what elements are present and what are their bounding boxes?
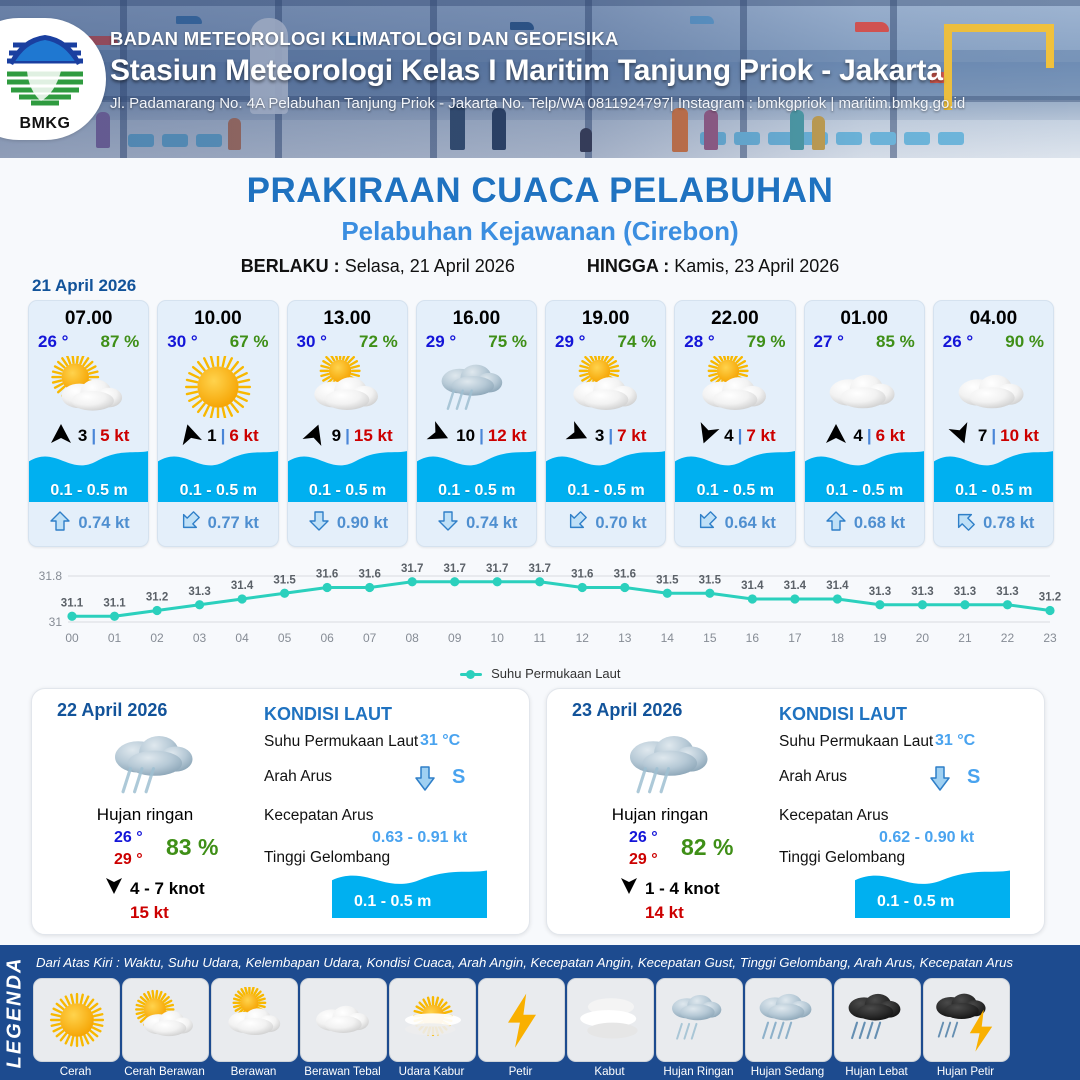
panel-wind-range: 1 - 4 knot: [645, 879, 720, 899]
panel-sea-title: KONDISI LAUT: [779, 704, 907, 725]
bmkg-logo: BMKG: [0, 18, 106, 140]
card-wind-direction: 7: [978, 426, 987, 446]
legend-item-icon: [745, 978, 832, 1062]
svg-text:31.6: 31.6: [571, 569, 593, 581]
card-wind-direction: 4: [724, 426, 733, 446]
panel-current-dir-value: S: [967, 766, 980, 789]
legend-item: Cerah Berawan: [122, 978, 207, 1078]
svg-text:31.5: 31.5: [699, 574, 722, 586]
card-weather-icon: [546, 354, 665, 420]
svg-text:31.4: 31.4: [784, 580, 807, 592]
card-wave-height: 0.1 - 0.5 m: [805, 482, 925, 500]
svg-text:31.7: 31.7: [444, 563, 466, 575]
card-current-row: 0.74 kt: [29, 511, 149, 536]
card-wind-speed: 12 kt: [488, 426, 527, 446]
panel-temp-max: 29 °: [114, 851, 143, 869]
legend-item-label: Cerah Berawan: [122, 1065, 207, 1078]
panel-current-speed-value: 0.62 - 0.90 kt: [879, 829, 974, 847]
svg-text:31.3: 31.3: [996, 586, 1018, 598]
svg-text:31.6: 31.6: [358, 569, 380, 581]
legend-item-label: Hujan Sedang: [745, 1065, 830, 1078]
card-wind-direction: 3: [595, 426, 604, 446]
svg-text:31.1: 31.1: [61, 597, 84, 609]
svg-text:23: 23: [1043, 631, 1057, 645]
hourly-card[interactable]: 13.00 30 ° 72 %: [287, 300, 408, 547]
legend-item: Berawan: [211, 978, 296, 1078]
card-current-row: 0.64 kt: [675, 511, 795, 536]
card-wind-separator: |: [221, 426, 226, 446]
card-humidity: 75 %: [488, 332, 527, 352]
card-current-speed: 0.90 kt: [337, 514, 388, 533]
bmkg-logo-text: BMKG: [0, 115, 93, 133]
panel-condition: Hujan ringan: [565, 805, 755, 825]
legend-item-icon: [834, 978, 921, 1062]
svg-text:07: 07: [363, 631, 377, 645]
card-current-row: 0.77 kt: [158, 511, 278, 536]
card-weather-icon: [29, 354, 148, 420]
svg-text:31.2: 31.2: [1039, 592, 1061, 604]
card-wave-height: 0.1 - 0.5 m: [417, 482, 537, 500]
legend-item: Petir: [478, 978, 563, 1078]
card-wind-speed: 7 kt: [746, 426, 775, 446]
svg-text:31.8: 31.8: [39, 569, 63, 583]
card-current-speed: 0.70 kt: [595, 514, 646, 533]
card-wind-separator: |: [867, 426, 872, 446]
card-wind-separator: |: [608, 426, 613, 446]
svg-text:15: 15: [703, 631, 717, 645]
card-wind-direction: 4: [853, 426, 862, 446]
hourly-date-label: 21 April 2026: [32, 276, 136, 296]
legend-item: Hujan Petir: [923, 978, 1008, 1078]
svg-text:14: 14: [661, 631, 675, 645]
card-time: 10.00: [158, 308, 277, 330]
legend-item-icon: [122, 978, 209, 1062]
daily-forecast-panel[interactable]: 22 April 2026 Hujan ringan: [31, 688, 530, 935]
legend-item: Hujan Lebat: [834, 978, 919, 1078]
hourly-card[interactable]: 04.00 26 ° 90 %: [933, 300, 1054, 547]
svg-text:12: 12: [576, 631, 590, 645]
card-wave-height: 0.1 - 0.5 m: [546, 482, 666, 500]
hourly-card[interactable]: 22.00 28 ° 79 %: [674, 300, 795, 547]
card-current-speed: 0.74 kt: [466, 514, 517, 533]
panel-temp-min: 26 °: [114, 829, 143, 847]
legend-item-icon: [656, 978, 743, 1062]
panel-sst-label: Suhu Permukaan Laut: [264, 733, 418, 751]
svg-text:03: 03: [193, 631, 207, 645]
legend-note: Dari Atas Kiri : Waktu, Suhu Udara, Kele…: [36, 955, 1076, 970]
svg-text:18: 18: [831, 631, 845, 645]
card-weather-icon: [675, 354, 794, 420]
card-temperature: 29 °: [426, 332, 456, 352]
card-time: 19.00: [546, 308, 665, 330]
card-current-row: 0.68 kt: [805, 511, 925, 536]
card-current-row: 0.70 kt: [546, 511, 666, 536]
card-temperature: 27 °: [814, 332, 844, 352]
chart-legend-marker: [460, 673, 482, 676]
card-wind-speed: 7 kt: [617, 426, 646, 446]
card-time: 16.00: [417, 308, 536, 330]
page-title: PRAKIRAAN CUACA PELABUHAN: [0, 171, 1080, 211]
current-direction-arrow-icon: [953, 511, 977, 536]
card-current-speed: 0.78 kt: [983, 514, 1034, 533]
card-wind-speed: 6 kt: [876, 426, 905, 446]
panel-gust: 14 kt: [645, 903, 684, 923]
wind-direction-arrow-icon: [619, 877, 639, 900]
hourly-forecast-row: 07.00 26 ° 87 %: [28, 300, 1054, 547]
card-humidity: 67 %: [230, 332, 269, 352]
card-wind-direction: 9: [332, 426, 341, 446]
card-temperature: 30 °: [297, 332, 327, 352]
svg-text:22: 22: [1001, 631, 1015, 645]
card-temperature: 28 °: [684, 332, 714, 352]
current-direction-arrow-icon: [307, 511, 331, 536]
legend-item-icon: [33, 978, 120, 1062]
valid-from-label: BERLAKU :: [241, 256, 340, 276]
legend-item-icon: [567, 978, 654, 1062]
panel-current-speed-label: Kecepatan Arus: [779, 807, 888, 825]
panel-sst-label: Suhu Permukaan Laut: [779, 733, 933, 751]
current-direction-arrow-icon: [695, 511, 719, 536]
legend-side-title: LEGENDA: [0, 945, 30, 1080]
svg-text:13: 13: [618, 631, 632, 645]
svg-text:31.4: 31.4: [231, 580, 254, 592]
card-time: 22.00: [675, 308, 794, 330]
panel-date: 22 April 2026: [57, 700, 167, 721]
current-direction-arrow-icon: [929, 765, 951, 796]
svg-text:04: 04: [235, 631, 249, 645]
legend-item-label: Hujan Petir: [923, 1065, 1008, 1078]
card-humidity: 85 %: [876, 332, 915, 352]
legend-item: Kabut: [567, 978, 652, 1078]
svg-text:16: 16: [746, 631, 760, 645]
agency-name: BADAN METEOROLOGI KLIMATOLOGI DAN GEOFIS…: [110, 28, 1065, 50]
card-time: 01.00: [805, 308, 924, 330]
card-weather-icon: [288, 354, 407, 420]
card-wave-height: 0.1 - 0.5 m: [158, 482, 278, 500]
legend-item-icon: [300, 978, 387, 1062]
station-address: Jl. Padamarang No. 4A Pelabuhan Tanjung …: [110, 95, 1065, 112]
svg-text:31.3: 31.3: [869, 586, 891, 598]
card-current-row: 0.78 kt: [934, 511, 1054, 536]
legend-item: Cerah: [33, 978, 118, 1078]
hourly-card[interactable]: 16.00 29 ° 75 %: [416, 300, 537, 547]
legend-item-icon: [211, 978, 298, 1062]
card-temperature: 30 °: [167, 332, 197, 352]
legend-item-label: Cerah: [33, 1065, 118, 1078]
svg-text:31.5: 31.5: [273, 574, 296, 586]
card-current-speed: 0.77 kt: [208, 514, 259, 533]
station-name: Stasiun Meteorologi Kelas I Maritim Tanj…: [110, 54, 1065, 88]
svg-text:31.4: 31.4: [741, 580, 764, 592]
valid-until-value: Kamis, 23 April 2026: [674, 256, 839, 276]
svg-text:31.5: 31.5: [656, 574, 679, 586]
hourly-card[interactable]: 01.00 27 ° 85 %: [804, 300, 925, 547]
chart-legend: Suhu Permukaan Laut: [0, 666, 1080, 681]
panel-gust: 15 kt: [130, 903, 169, 923]
page-subtitle: Pelabuhan Kejawanan (Cirebon): [0, 216, 1080, 247]
svg-text:31.3: 31.3: [188, 586, 210, 598]
svg-text:05: 05: [278, 631, 292, 645]
card-wave-height: 0.1 - 0.5 m: [29, 482, 149, 500]
card-wave-height: 0.1 - 0.5 m: [934, 482, 1054, 500]
page-header: BMKG BADAN METEOROLOGI KLIMATOLOGI DAN G…: [0, 0, 1080, 158]
panel-weather-icon: [619, 725, 729, 803]
card-wind-direction: 1: [207, 426, 216, 446]
panel-condition: Hujan ringan: [50, 805, 240, 825]
card-time: 07.00: [29, 308, 148, 330]
svg-text:06: 06: [320, 631, 334, 645]
card-humidity: 72 %: [359, 332, 398, 352]
card-humidity: 74 %: [618, 332, 657, 352]
svg-text:09: 09: [448, 631, 462, 645]
current-direction-arrow-icon: [48, 511, 72, 536]
current-direction-arrow-icon: [414, 765, 436, 796]
card-wind-separator: |: [479, 426, 484, 446]
current-direction-arrow-icon: [178, 511, 202, 536]
legend-items-row: Cerah Cerah Berawan: [33, 978, 1077, 1078]
legend-item-label: Berawan: [211, 1065, 296, 1078]
panel-wave-value: 0.1 - 0.5 m: [877, 893, 954, 911]
card-current-speed: 0.64 kt: [725, 514, 776, 533]
card-time: 04.00: [934, 308, 1053, 330]
panel-wind-range: 4 - 7 knot: [130, 879, 205, 899]
svg-text:31.2: 31.2: [146, 592, 168, 604]
legend-item: Udara Kabur: [389, 978, 474, 1078]
svg-text:11: 11: [534, 631, 547, 645]
legend-item-label: Kabut: [567, 1065, 652, 1078]
current-direction-arrow-icon: [565, 511, 589, 536]
sst-chart: 31.83131.10031.10131.20231.30331.40431.5…: [20, 558, 1062, 668]
svg-text:31.3: 31.3: [911, 586, 933, 598]
svg-text:17: 17: [788, 631, 802, 645]
card-wind-speed: 6 kt: [229, 426, 258, 446]
valid-from-value: Selasa, 21 April 2026: [345, 256, 515, 276]
panel-weather-icon: [104, 725, 214, 803]
svg-text:31.1: 31.1: [103, 597, 126, 609]
card-weather-icon: [934, 354, 1053, 420]
legend-item-label: Hujan Lebat: [834, 1065, 919, 1078]
card-current-row: 0.90 kt: [288, 511, 408, 536]
validity-row: BERLAKU : Selasa, 21 April 2026 HINGGA :…: [0, 256, 1080, 277]
card-temperature: 26 °: [38, 332, 68, 352]
panel-wind-row: 1 - 4 knot: [619, 877, 720, 900]
card-humidity: 90 %: [1005, 332, 1044, 352]
svg-text:31.7: 31.7: [529, 563, 551, 575]
card-weather-icon: [417, 354, 536, 420]
panel-current-speed-label: Kecepatan Arus: [264, 807, 373, 825]
card-current-row: 0.74 kt: [417, 511, 537, 536]
svg-text:31: 31: [49, 615, 63, 629]
svg-text:31.7: 31.7: [486, 563, 508, 575]
svg-text:08: 08: [405, 631, 419, 645]
panel-humidity: 83 %: [166, 834, 218, 861]
svg-text:31.3: 31.3: [954, 586, 976, 598]
card-wind-direction: 3: [78, 426, 87, 446]
panel-temp-min: 26 °: [629, 829, 658, 847]
card-wind-speed: 5 kt: [100, 426, 129, 446]
card-wind-separator: |: [91, 426, 96, 446]
card-temperature: 29 °: [555, 332, 585, 352]
svg-text:10: 10: [491, 631, 505, 645]
panel-current-speed-value: 0.63 - 0.91 kt: [372, 829, 467, 847]
legend-item-label: Hujan Ringan: [656, 1065, 741, 1078]
svg-text:21: 21: [958, 631, 972, 645]
legend-item: Hujan Sedang: [745, 978, 830, 1078]
card-weather-icon: [805, 354, 924, 420]
legend-item: Hujan Ringan: [656, 978, 741, 1078]
panel-wave-value: 0.1 - 0.5 m: [354, 893, 431, 911]
svg-text:19: 19: [873, 631, 887, 645]
panel-current-dir-label: Arah Arus: [779, 768, 847, 786]
card-wind-separator: |: [738, 426, 743, 446]
svg-text:00: 00: [65, 631, 79, 645]
panel-sst-value: 31 °C: [935, 732, 975, 750]
panel-humidity: 82 %: [681, 834, 733, 861]
chart-legend-label: Suhu Permukaan Laut: [491, 666, 620, 681]
current-direction-arrow-icon: [436, 511, 460, 536]
panel-current-dir-label: Arah Arus: [264, 768, 332, 786]
svg-text:31.6: 31.6: [316, 569, 338, 581]
card-wind-speed: 10 kt: [1000, 426, 1039, 446]
legend-item-label: Udara Kabur: [389, 1065, 474, 1078]
card-wind-speed: 15 kt: [354, 426, 393, 446]
hourly-card[interactable]: 07.00 26 ° 87 %: [28, 300, 149, 547]
legend-item-label: Berawan Tebal: [300, 1065, 385, 1078]
panel-wind-row: 4 - 7 knot: [104, 877, 205, 900]
legend-item: Berawan Tebal: [300, 978, 385, 1078]
card-wind-separator: |: [345, 426, 350, 446]
panel-temp-max: 29 °: [629, 851, 658, 869]
current-direction-arrow-icon: [824, 511, 848, 536]
card-wind-separator: |: [991, 426, 996, 446]
legend-item-icon: [389, 978, 476, 1062]
hourly-card[interactable]: 19.00 29 ° 74 %: [545, 300, 666, 547]
bmkg-logo-icon: [0, 27, 93, 115]
svg-text:31.4: 31.4: [826, 580, 849, 592]
card-current-speed: 0.74 kt: [78, 514, 129, 533]
panel-sea-title: KONDISI LAUT: [264, 704, 392, 725]
legend-item-icon: [923, 978, 1010, 1062]
card-time: 13.00: [288, 308, 407, 330]
panel-current-dir-value: S: [452, 766, 465, 789]
card-humidity: 79 %: [747, 332, 786, 352]
hourly-card[interactable]: 10.00 30 ° 67 % 1 | 6 kt: [157, 300, 278, 547]
card-temperature: 26 °: [943, 332, 973, 352]
valid-until-label: HINGGA :: [587, 256, 669, 276]
card-weather-icon: [158, 354, 277, 420]
panel-date: 23 April 2026: [572, 700, 682, 721]
card-wave-height: 0.1 - 0.5 m: [675, 482, 795, 500]
svg-text:02: 02: [150, 631, 164, 645]
card-wind-direction: 10: [456, 426, 475, 446]
svg-text:31.7: 31.7: [401, 563, 423, 575]
legend-item-icon: [478, 978, 565, 1062]
svg-text:20: 20: [916, 631, 930, 645]
panel-sst-value: 31 °C: [420, 732, 460, 750]
wind-direction-arrow-icon: [104, 877, 124, 900]
svg-text:31.6: 31.6: [614, 569, 636, 581]
card-wave-height: 0.1 - 0.5 m: [288, 482, 408, 500]
svg-text:01: 01: [108, 631, 122, 645]
legend-item-label: Petir: [478, 1065, 563, 1078]
card-humidity: 87 %: [101, 332, 140, 352]
daily-forecast-panel[interactable]: 23 April 2026 Hujan ringan: [546, 688, 1045, 935]
card-current-speed: 0.68 kt: [854, 514, 905, 533]
